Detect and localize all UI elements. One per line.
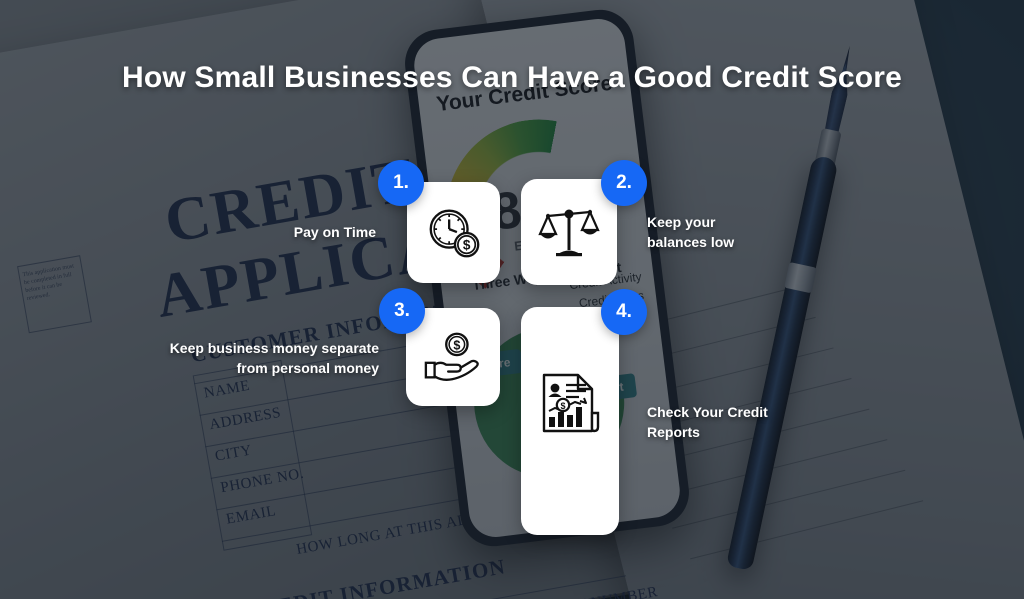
svg-text:$: $ bbox=[462, 237, 470, 252]
step-badge-1: 1. bbox=[378, 160, 424, 206]
svg-text:$: $ bbox=[453, 338, 460, 352]
svg-text:$: $ bbox=[560, 401, 565, 411]
step-card-1: $ bbox=[407, 182, 500, 283]
infographic-canvas: This application must be completed in fu… bbox=[0, 0, 1024, 599]
step-label-2: Keep your balances low bbox=[647, 212, 734, 252]
clock-dollar-icon: $ bbox=[423, 202, 485, 264]
infographic-content: How Small Businesses Can Have a Good Cre… bbox=[0, 0, 1024, 599]
balance-scale-icon bbox=[537, 200, 601, 264]
credit-report-document-icon: $ bbox=[536, 369, 604, 437]
step-badge-4: 4. bbox=[601, 289, 647, 335]
step-badge-3: 3. bbox=[379, 288, 425, 334]
step-card-2 bbox=[521, 179, 617, 285]
step-label-3: Keep business money separate from person… bbox=[170, 338, 379, 378]
page-title: How Small Businesses Can Have a Good Cre… bbox=[0, 60, 1024, 96]
step-label-1: Pay on Time bbox=[294, 222, 376, 242]
hand-coin-icon: $ bbox=[422, 326, 484, 388]
step-label-4: Check Your Credit Reports bbox=[647, 402, 768, 442]
step-card-4: $ bbox=[521, 307, 619, 535]
step-badge-2: 2. bbox=[601, 160, 647, 206]
